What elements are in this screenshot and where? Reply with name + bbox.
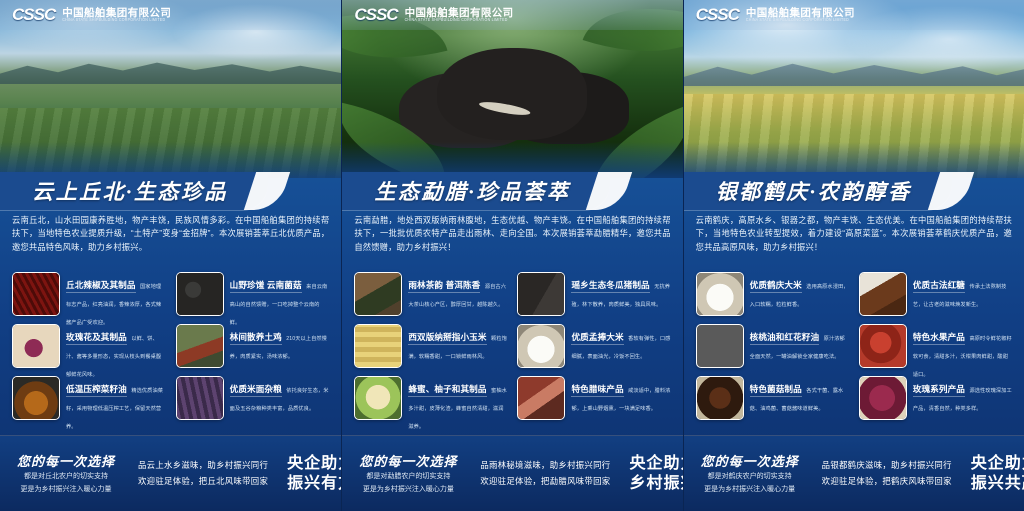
product-grid-qiubei: 丘北辣椒及其制品 国家地理标志产品，红亮油润，香辣浓厚，各式辣酱产品广受欢迎。 … [12, 272, 329, 422]
footer-pledge-block: 您的每一次选择 都是对鹤庆农户的切实支持 更是为乡村振兴注入暖心力量 [694, 451, 806, 496]
product-thumbnail [176, 272, 224, 316]
footer-sub-line-1: 都是对丘北农户的切实支持 [24, 472, 108, 483]
brand-name-block: 中国船舶集团有限公司 CHINA STATE SHIPBUILDING CORP… [405, 8, 514, 23]
product-card[interactable]: 优质古法红糖 传承土法熬制技艺，让古老的滋味焕发新生。 [859, 272, 1012, 318]
product-thumbnail [12, 324, 60, 368]
footer-sub-line-2: 更是为乡村振兴注入暖心力量 [704, 485, 795, 496]
cssc-logo-icon: CSSC [696, 5, 739, 25]
footer-slogan-line-1: 央企助力 [971, 454, 1024, 474]
brand-logo-bar: CSSC 中国船舶集团有限公司 CHINA STATE SHIPBUILDING… [684, 0, 1024, 30]
panel-title: 银都鹤庆·农韵醇香 [716, 176, 920, 206]
footer-invite-line-1: 品云上水乡滋味，助乡村振兴同行 [138, 458, 268, 474]
title-ribbon-qiubei: 云上丘北·生态珍品 [0, 172, 268, 210]
footer-slogan-block: 央企助力 振兴共赢 [968, 454, 1024, 493]
product-card[interactable]: 特色腊味产品 咸淡适中，腊料浓郁，上乘山野烟熏，一块满足味香。 [517, 376, 670, 422]
footer-invite-block: 品雨林秘境滋味，助乡村振兴同行 欢迎驻足体验，把勐腊风味带回家 [480, 458, 610, 490]
product-thumbnail [696, 272, 744, 316]
brand-name-block: 中国船舶集团有限公司 CHINA STATE SHIPBUILDING CORP… [746, 8, 855, 23]
poster-board: CSSC 中国船舶集团有限公司 CHINA STATE SHIPBUILDING… [0, 0, 1024, 511]
product-card[interactable]: 丘北辣椒及其制品 国家地理标志产品，红亮油润，香辣浓厚，各式辣酱产品广受欢迎。 [12, 272, 166, 318]
footer-script-line: 您的每一次选择 [17, 451, 115, 470]
product-thumbnail [12, 376, 60, 420]
panel-qiubei: CSSC 中国船舶集团有限公司 CHINA STATE SHIPBUILDING… [0, 0, 341, 511]
product-name: 山野珍馐 云南菌菇 [230, 280, 302, 293]
title-ribbon-heqing: 银都鹤庆·农韵醇香 [684, 172, 952, 210]
brand-logo-bar: CSSC 中国船舶集团有限公司 CHINA STATE SHIPBUILDING… [0, 0, 341, 30]
product-name: 低温压榨菜籽油 [66, 384, 127, 397]
product-card[interactable]: 雨林茶韵 普洱陈香 源自古六大茶山核心产区，醇厚回甘，越陈越久。 [354, 272, 507, 318]
product-name: 瑶乡生态冬瓜猪制品 [571, 280, 649, 293]
cssc-logo-icon: CSSC [12, 5, 55, 25]
footer-invite-line-2: 欢迎驻足体验，把丘北风味带回家 [138, 474, 268, 490]
product-thumbnail [354, 324, 402, 368]
product-card[interactable]: 低温压榨菜籽油 精选优质油菜籽，采用物理低温压榨工艺，保留天然营养。 [12, 376, 166, 422]
product-name: 优质古法红糖 [913, 280, 965, 293]
footer-invite-line-1: 品银都鹤庆滋味，助乡村振兴同行 [822, 458, 952, 474]
product-name: 特色水果产品 [913, 332, 965, 345]
footer-pledge-block: 您的每一次选择 都是对丘北农户的切实支持 更是为乡村振兴注入暖心力量 [10, 451, 122, 496]
product-thumbnail [354, 272, 402, 316]
product-thumbnail [354, 376, 402, 420]
footer-slogan-block: 央企助力 乡村振兴 [626, 454, 682, 493]
product-card[interactable]: 核桃油和红花籽油 原汁浓郁全面天然，一罐油解锁全家健康吃法。 [696, 324, 849, 370]
footer-script-line: 您的每一次选择 [359, 451, 457, 470]
product-thumbnail [176, 324, 224, 368]
product-card[interactable]: 优质孟捧大米 香软有弹性，口感细腻，表面油光，冷饭不回生。 [517, 324, 670, 370]
product-grid-mengla: 雨林茶韵 普洱陈香 源自古六大茶山核心产区，醇厚回甘，越陈越久。 瑶乡生态冬瓜猪… [354, 272, 670, 422]
footer-invite-line-2: 欢迎驻足体验，把鹤庆风味带回家 [822, 474, 952, 490]
product-card[interactable]: 瑶乡生态冬瓜猪制品 无抗养殖，林下散养，肉质鲜美，独具风味。 [517, 272, 670, 318]
product-name: 优质孟捧大米 [571, 332, 623, 345]
product-card[interactable]: 林间散养土鸡 210天以上自然慢养，肉质紧实，汤味浓郁。 [176, 324, 330, 370]
footer-slogan-line-1: 央企助力 [629, 454, 682, 474]
footer-pledge-block: 您的每一次选择 都是对勐腊农户的切实支持 更是为乡村振兴注入暖心力量 [352, 451, 464, 496]
footer-sub-line-2: 更是为乡村振兴注入暖心力量 [21, 485, 112, 496]
product-thumbnail [517, 324, 565, 368]
footer-invite-line-2: 欢迎驻足体验，把勐腊风味带回家 [480, 474, 610, 490]
product-thumbnail [12, 272, 60, 316]
product-card[interactable]: 西双版纳掰指小玉米 颗粒饱满，软糯香甜，一口锁鲜雨林风。 [354, 324, 507, 370]
product-name: 玫瑰花及其制品 [66, 332, 127, 345]
product-name: 林间散养土鸡 [230, 332, 282, 345]
title-ribbon-mengla: 生态勐腊·珍品荟萃 [342, 172, 610, 210]
product-card[interactable]: 优质鹤庆大米 选用高原水浸田，入口软糯，粒粒鲜香。 [696, 272, 849, 318]
product-name: 蜂蜜、柚子和其制品 [408, 384, 486, 397]
product-thumbnail [859, 324, 907, 368]
product-name: 特色腊味产品 [571, 384, 623, 397]
product-thumbnail [859, 272, 907, 316]
product-card[interactable]: 优质米面杂粮 依托良好生态，米面及五谷杂粮种类丰富，品质优良。 [176, 376, 330, 422]
footer-sub-line-2: 更是为乡村振兴注入暖心力量 [363, 485, 454, 496]
product-thumbnail [176, 376, 224, 420]
panel-intro-text: 云南鹤庆，高原水乡、银器之都，物产丰饶、生态优美。在中国船舶集团的持续帮扶下，当… [696, 214, 1012, 254]
product-card[interactable]: 蜂蜜、柚子和其制品 蜜柚水多汁甜，皮薄化渣，蜂蜜自然清甜，滋润滋养。 [354, 376, 507, 422]
product-thumbnail [696, 324, 744, 368]
brand-logo-bar: CSSC 中国船舶集团有限公司 CHINA STATE SHIPBUILDING… [342, 0, 682, 30]
footer-invite-line-1: 品雨林秘境滋味，助乡村振兴同行 [480, 458, 610, 474]
panel-footer-mengla: 您的每一次选择 都是对勐腊农户的切实支持 更是为乡村振兴注入暖心力量 品雨林秘境… [342, 435, 682, 511]
product-card[interactable]: 特色菌菇制品 各式干菌、露水菇、油鸡菌、菌菇酱味道鲜美。 [696, 376, 849, 422]
footer-slogan-block: 央企助力 振兴有方 [284, 454, 341, 493]
product-card[interactable]: 山野珍馐 云南菌菇 来自云南高山的自然馈赠，一口吃掉整个云南的鲜。 [176, 272, 330, 318]
footer-sub-line-1: 都是对勐腊农户的切实支持 [366, 472, 450, 483]
panel-title: 生态勐腊·珍品荟萃 [374, 176, 578, 206]
product-grid-heqing: 优质鹤庆大米 选用高原水浸田，入口软糯，粒粒鲜香。 优质古法红糖 传承土法熬制技… [696, 272, 1012, 422]
brand-name-block: 中国船舶集团有限公司 CHINA STATE SHIPBUILDING CORP… [62, 8, 171, 23]
product-card[interactable]: 玫瑰花及其制品 以鲜、饼、汁、酱等多量形态，实现从枝头到餐桌馥郁鲜花风味。 [12, 324, 166, 370]
footer-slogan-line-2: 振兴共赢 [971, 474, 1024, 494]
product-card[interactable]: 特色水果产品 高原时令鲜花椒籽软可食，清甜多汁，沃柑果肉鲜甜，酸甜适口。 [859, 324, 1012, 370]
brand-name-en: CHINA STATE SHIPBUILDING CORPORATION LIM… [62, 18, 171, 22]
footer-invite-block: 品云上水乡滋味，助乡村振兴同行 欢迎驻足体验，把丘北风味带回家 [138, 458, 268, 490]
elephant-shape [437, 48, 587, 140]
product-name: 雨林茶韵 普洱陈香 [408, 280, 480, 293]
product-card[interactable]: 玫瑰系列产品 源选性玫瑰深加工产品，清香自然，种类多样。 [859, 376, 1012, 422]
panel-mengla: CSSC 中国船舶集团有限公司 CHINA STATE SHIPBUILDING… [341, 0, 682, 511]
product-thumbnail [517, 376, 565, 420]
product-name: 丘北辣椒及其制品 [66, 280, 136, 293]
product-name: 优质米面杂粮 [230, 384, 282, 397]
cssc-logo-icon: CSSC [354, 5, 397, 25]
product-thumbnail [696, 376, 744, 420]
product-name: 玫瑰系列产品 [913, 384, 965, 397]
product-name: 优质鹤庆大米 [750, 280, 802, 293]
product-name: 西双版纳掰指小玉米 [408, 332, 486, 345]
product-name: 特色菌菇制品 [750, 384, 802, 397]
footer-script-line: 您的每一次选择 [701, 451, 799, 470]
footer-sub-line-1: 都是对鹤庆农户的切实支持 [708, 472, 792, 483]
panel-title: 云上丘北·生态珍品 [32, 176, 236, 206]
product-thumbnail [517, 272, 565, 316]
brand-name-en: CHINA STATE SHIPBUILDING CORPORATION LIM… [746, 18, 855, 22]
product-name: 核桃油和红花籽油 [750, 332, 820, 345]
panel-heqing: CSSC 中国船舶集团有限公司 CHINA STATE SHIPBUILDING… [683, 0, 1024, 511]
panel-footer-heqing: 您的每一次选择 都是对鹤庆农户的切实支持 更是为乡村振兴注入暖心力量 品银都鹤庆… [684, 435, 1024, 511]
footer-slogan-line-2: 乡村振兴 [629, 474, 682, 494]
footer-slogan-line-1: 央企助力 [287, 454, 341, 474]
footer-slogan-line-2: 振兴有方 [287, 474, 341, 494]
brand-name-en: CHINA STATE SHIPBUILDING CORPORATION LIM… [405, 18, 514, 22]
footer-invite-block: 品银都鹤庆滋味，助乡村振兴同行 欢迎驻足体验，把鹤庆风味带回家 [822, 458, 952, 490]
panel-intro-text: 云南勐腊，地处西双版纳雨林腹地，生态优越、物产丰饶。在中国船舶集团的持续帮扶下，… [354, 214, 670, 254]
panel-footer-qiubei: 您的每一次选择 都是对丘北农户的切实支持 更是为乡村振兴注入暖心力量 品云上水乡… [0, 435, 341, 511]
product-thumbnail [859, 376, 907, 420]
panel-intro-text: 云南丘北，山水田园康养胜地，物产丰饶，民族风情多彩。在中国船舶集团的持续帮扶下，… [12, 214, 329, 254]
